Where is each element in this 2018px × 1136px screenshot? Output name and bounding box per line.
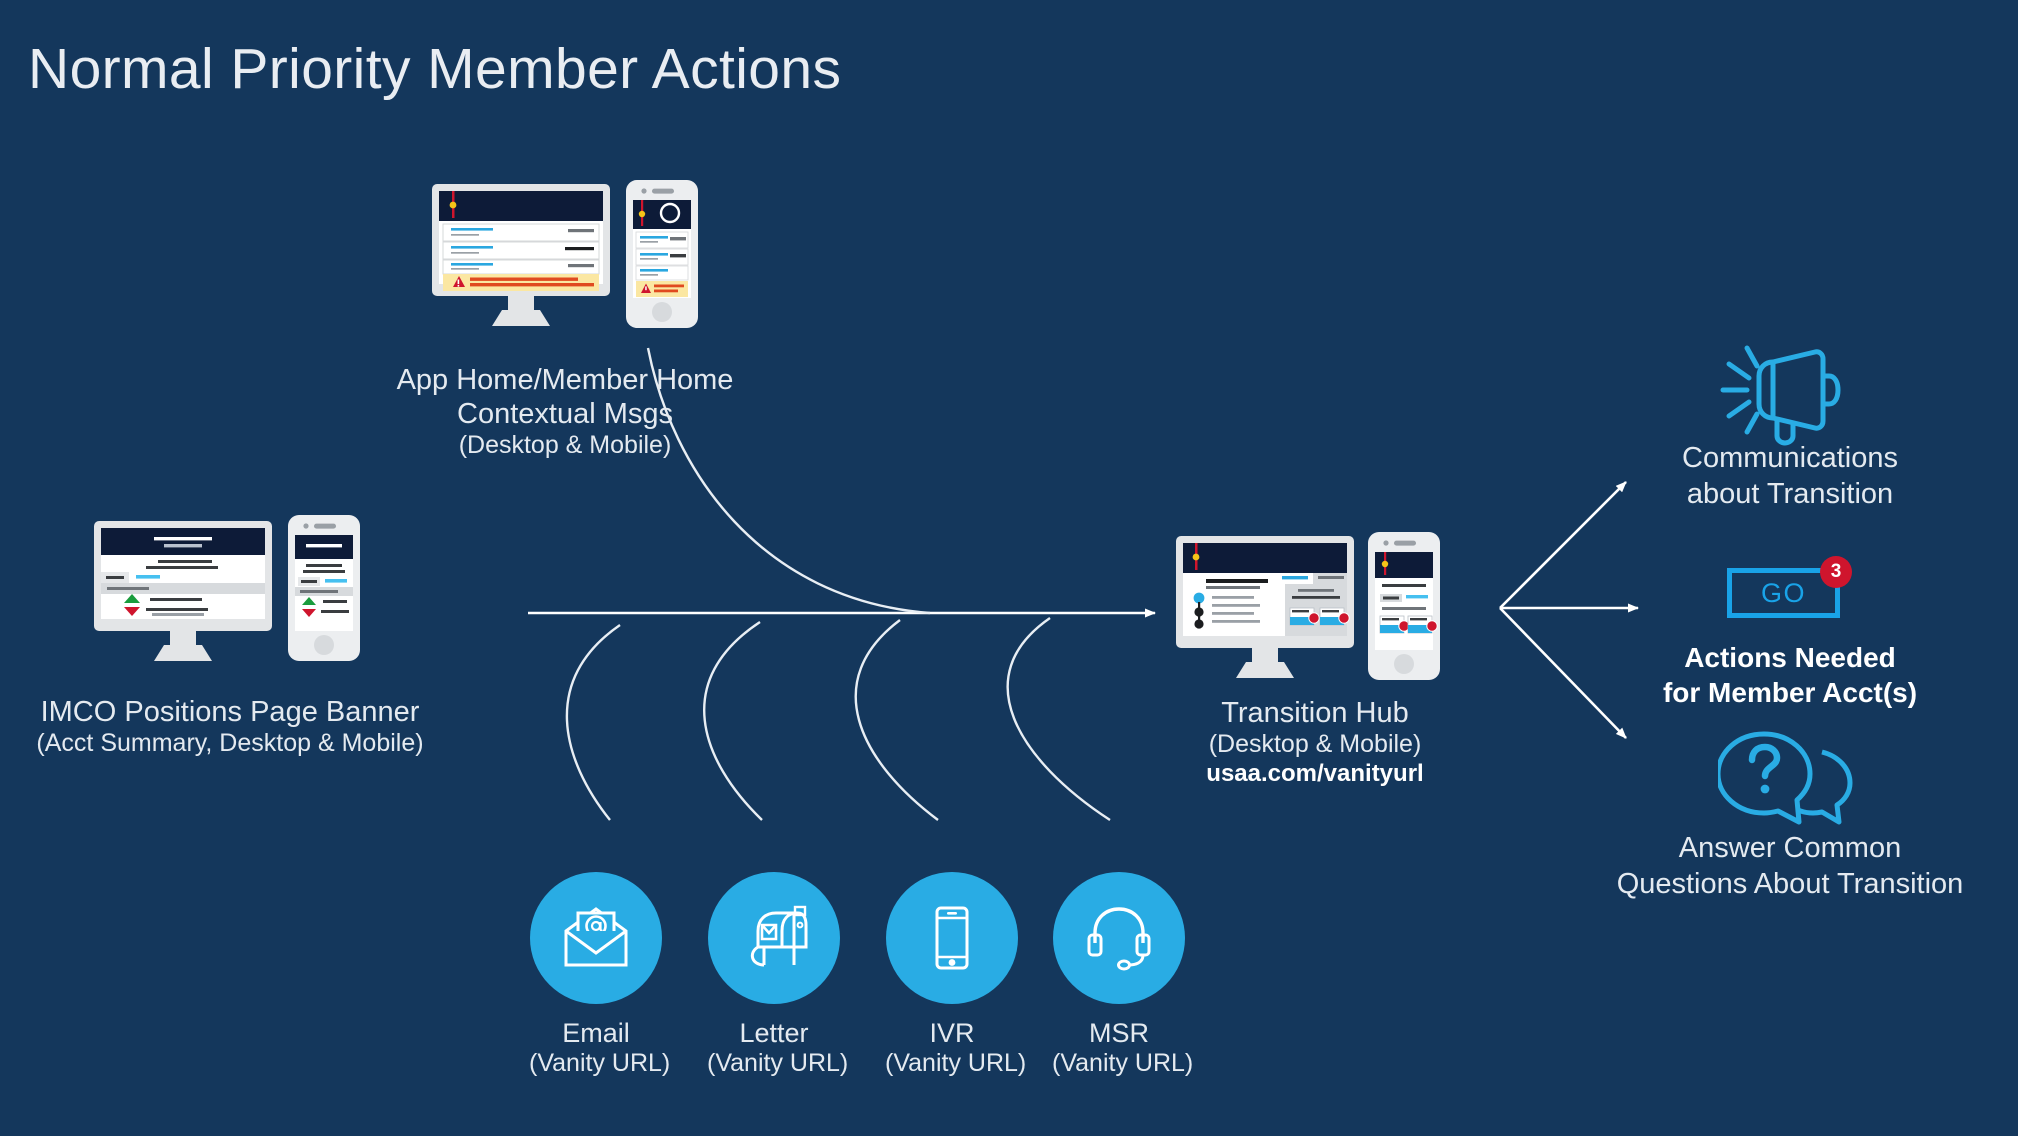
- question-bubbles-icon: [1718, 726, 1858, 832]
- app-home-label-line1: App Home/Member Home: [315, 363, 815, 397]
- communications-line2: about Transition: [1620, 476, 1960, 512]
- phone-icon: [916, 905, 988, 971]
- email-icon-circle: [530, 872, 662, 1004]
- hub-label-line1: Transition Hub: [1120, 696, 1510, 730]
- email-label: Email: [529, 1018, 663, 1049]
- curve-ivr: [856, 620, 938, 820]
- email-icon: [560, 905, 632, 971]
- outcome-communications-icon-wrap: [1715, 338, 1855, 453]
- questions-line2: Questions About Transition: [1600, 866, 1980, 902]
- msr-sublabel: (Vanity URL): [1052, 1049, 1186, 1078]
- mailbox-icon: [738, 905, 810, 971]
- curve-email: [567, 625, 620, 820]
- curve-letter: [704, 622, 762, 820]
- outcome-actions-caption: Actions Needed for Member Acct(s): [1620, 640, 1960, 710]
- fan-arrow-communications: [1500, 482, 1626, 608]
- msr-label: MSR: [1052, 1018, 1186, 1049]
- actions-needed-line1: Actions Needed: [1620, 640, 1960, 675]
- channel-letter[interactable]: Letter (Vanity URL): [707, 872, 841, 1078]
- curve-msr: [1008, 618, 1110, 820]
- communications-line1: Communications: [1620, 440, 1960, 476]
- msr-label-group: MSR (Vanity URL): [1052, 1018, 1186, 1078]
- go-badge-count: 3: [1820, 556, 1852, 588]
- go-button-label: GO: [1761, 578, 1806, 609]
- phone-icon-circle: [886, 872, 1018, 1004]
- letter-label-group: Letter (Vanity URL): [707, 1018, 841, 1078]
- headset-icon: [1083, 905, 1155, 971]
- channel-msr[interactable]: MSR (Vanity URL): [1052, 872, 1186, 1078]
- questions-line1: Answer Common: [1600, 830, 1980, 866]
- ivr-label: IVR: [885, 1018, 1019, 1049]
- letter-sublabel: (Vanity URL): [707, 1049, 841, 1078]
- app-home-label-line2: Contextual Msgs: [315, 397, 815, 431]
- app-home-label-line3: (Desktop & Mobile): [315, 431, 815, 461]
- outcome-questions-icon-wrap: [1718, 726, 1858, 837]
- ivr-label-group: IVR (Vanity URL): [885, 1018, 1019, 1078]
- megaphone-icon: [1715, 338, 1855, 448]
- transition-hub-device-group: [1172, 532, 1452, 697]
- transition-hub-caption: Transition Hub (Desktop & Mobile) usaa.c…: [1120, 696, 1510, 788]
- outcome-questions-caption: Answer Common Questions About Transition: [1600, 830, 1980, 903]
- imco-label-line1: IMCO Positions Page Banner: [20, 695, 440, 729]
- go-button[interactable]: GO 3: [1727, 568, 1852, 628]
- app-home-caption: App Home/Member Home Contextual Msgs (De…: [315, 363, 815, 461]
- channel-ivr[interactable]: IVR (Vanity URL): [885, 872, 1019, 1078]
- email-sublabel: (Vanity URL): [529, 1049, 663, 1078]
- ivr-sublabel: (Vanity URL): [885, 1049, 1019, 1078]
- app-home-device-group: [430, 180, 712, 345]
- imco-device-group: [90, 515, 370, 680]
- channel-email[interactable]: Email (Vanity URL): [529, 872, 663, 1078]
- actions-needed-line2: for Member Acct(s): [1620, 675, 1960, 710]
- mailbox-icon-circle: [708, 872, 840, 1004]
- email-label-group: Email (Vanity URL): [529, 1018, 663, 1078]
- letter-label: Letter: [707, 1018, 841, 1049]
- hub-vanity-url: usaa.com/vanityurl: [1120, 760, 1510, 788]
- diagram-canvas: Normal Priority Member Actions: [0, 0, 2018, 1136]
- imco-caption: IMCO Positions Page Banner (Acct Summary…: [20, 695, 440, 759]
- headset-icon-circle: [1053, 872, 1185, 1004]
- imco-label-line2: (Acct Summary, Desktop & Mobile): [20, 729, 440, 759]
- page-title: Normal Priority Member Actions: [28, 36, 841, 102]
- hub-label-line2: (Desktop & Mobile): [1120, 730, 1510, 760]
- fan-arrow-questions: [1500, 608, 1626, 738]
- outcome-communications-caption: Communications about Transition: [1620, 440, 1960, 513]
